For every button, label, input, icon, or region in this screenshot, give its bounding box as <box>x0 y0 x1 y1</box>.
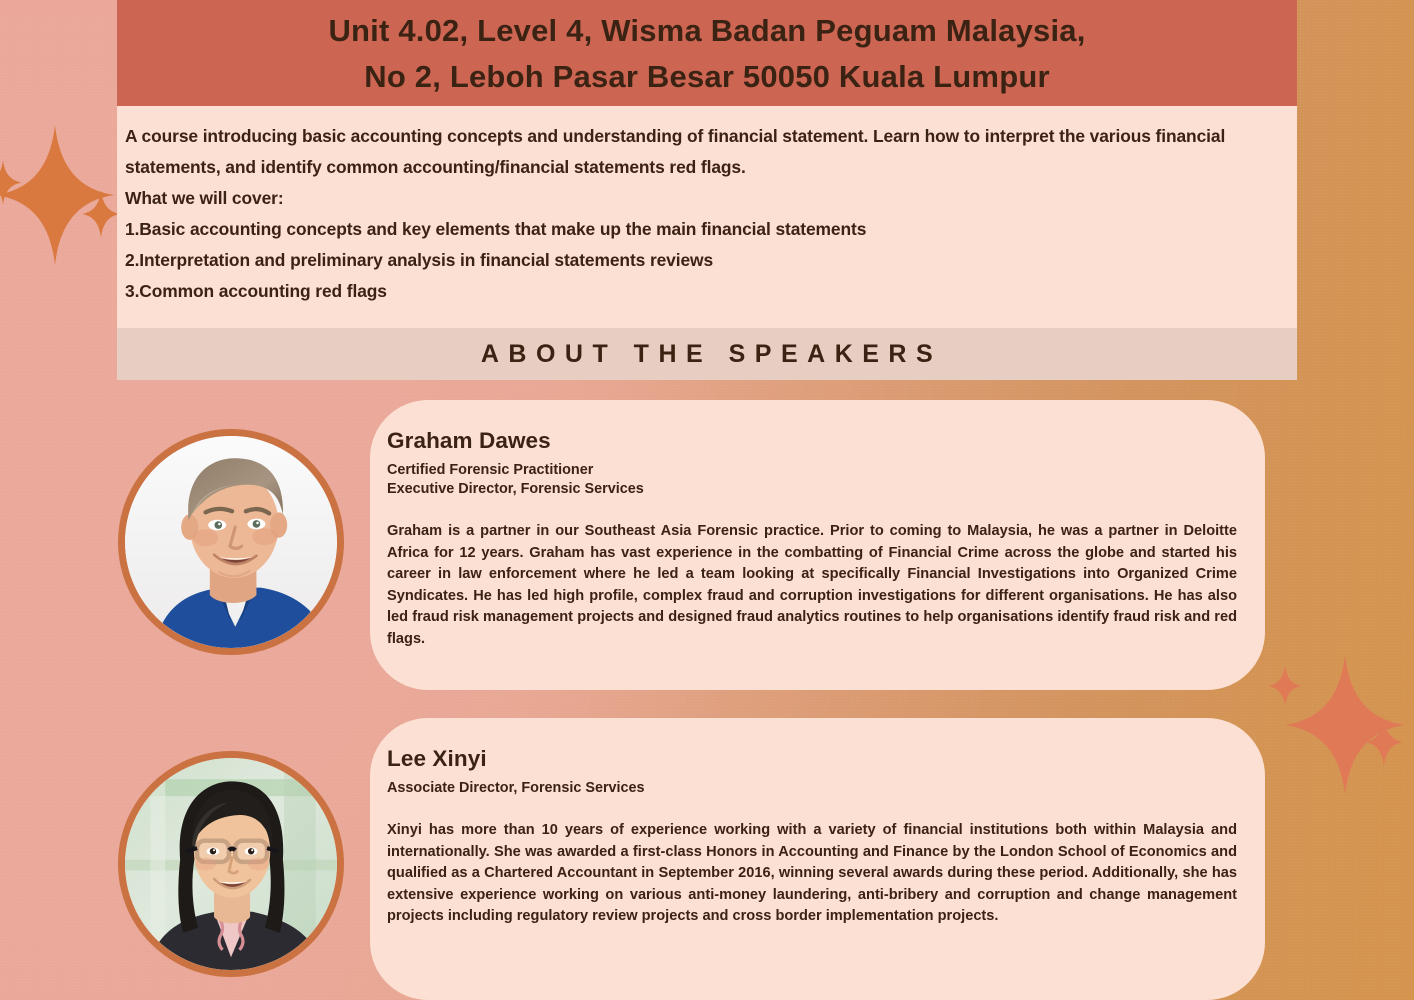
speaker-bio-1: Graham is a partner in our Southeast Asi… <box>387 521 1237 650</box>
avatar-graham-dawes <box>118 429 344 655</box>
course-description-paragraph: A course introducing basic accounting co… <box>125 121 1289 183</box>
speaker-bio-2: Xinyi has more than 10 years of experien… <box>387 820 1237 928</box>
course-topic-item-2: 2.Interpretation and preliminary analysi… <box>125 245 1289 276</box>
avatar-lee-xinyi <box>118 751 344 977</box>
about-the-speakers-title: ABOUT THE SPEAKERS <box>472 340 942 369</box>
sparkle-icon-left-small-bottom <box>82 190 120 238</box>
venue-header-banner: Unit 4.02, Level 4, Wisma Badan Peguam M… <box>117 0 1297 106</box>
sparkle-icon-right-small-bottom <box>1365 718 1403 766</box>
speaker-name-2: Lee Xinyi <box>387 746 1237 772</box>
speaker-name-1: Graham Dawes <box>387 428 1237 454</box>
course-topic-item-1: 1.Basic accounting concepts and key elem… <box>125 214 1289 245</box>
speaker-card-graham-dawes: Graham Dawes Certified Forensic Practiti… <box>370 400 1265 690</box>
sparkle-icon-left-small-top <box>0 160 22 205</box>
speaker-role-1-line-1: Certified Forensic Practitioner <box>387 461 1237 480</box>
course-description-panel: A course introducing basic accounting co… <box>117 106 1297 328</box>
speaker-role-2-line-1: Associate Director, Forensic Services <box>387 779 1237 798</box>
speaker-role-1-line-2: Executive Director, Forensic Services <box>387 480 1237 499</box>
avatar-photo-2 <box>125 758 337 970</box>
venue-address-line-2: No 2, Leboh Pasar Besar 50050 Kuala Lump… <box>364 54 1049 100</box>
course-cover-heading: What we will cover: <box>125 183 1289 214</box>
venue-address-line-1: Unit 4.02, Level 4, Wisma Badan Peguam M… <box>328 8 1085 54</box>
about-the-speakers-banner: ABOUT THE SPEAKERS <box>117 328 1297 380</box>
speaker-card-lee-xinyi: Lee Xinyi Associate Director, Forensic S… <box>370 718 1265 1000</box>
course-topic-item-3: 3.Common accounting red flags <box>125 276 1289 307</box>
sparkle-icon-right-small-top <box>1268 665 1302 707</box>
avatar-photo-1 <box>125 436 337 648</box>
